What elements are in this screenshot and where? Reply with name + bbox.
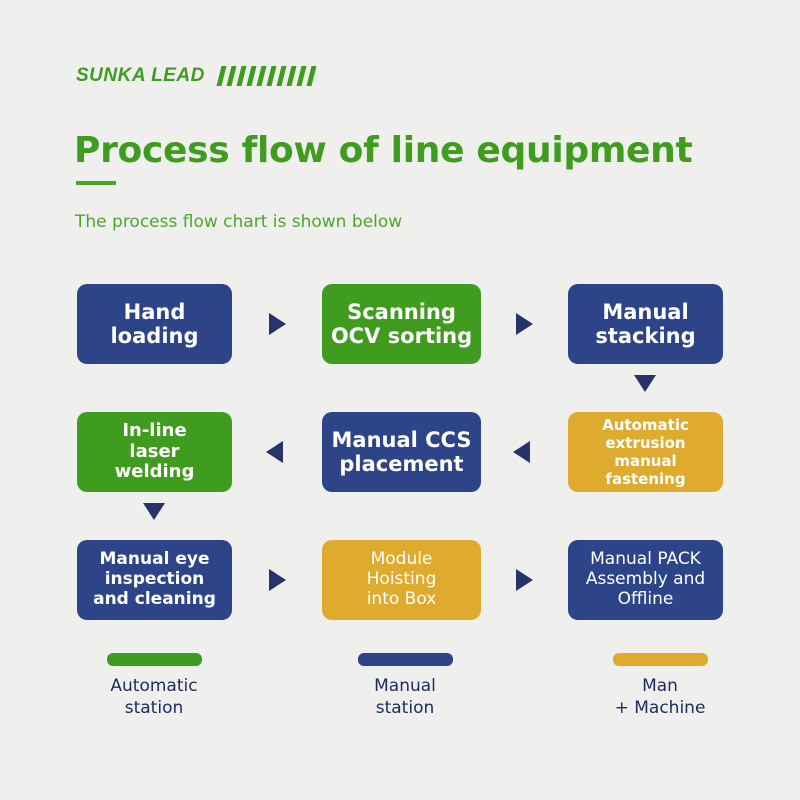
arrow-down-icon bbox=[143, 503, 165, 520]
legend-label: Automatic station bbox=[84, 675, 224, 719]
flow-node-label: Hand loading bbox=[110, 300, 198, 349]
legend-swatch-blue bbox=[358, 653, 453, 666]
legend-label: Man + Machine bbox=[590, 675, 730, 719]
flow-node-module-hoisting-into-box[interactable]: Module Hoisting into Box bbox=[322, 540, 481, 620]
flow-node-hand-loading[interactable]: Hand loading bbox=[77, 284, 232, 364]
arrow-left-icon bbox=[513, 441, 530, 463]
legend-item-automatic-station: Automatic station bbox=[84, 653, 224, 719]
arrow-left-icon bbox=[266, 441, 283, 463]
flow-node-automatic-extrusion-manual-fastening[interactable]: Automatic extrusion manual fastening bbox=[568, 412, 723, 492]
flow-node-manual-pack-assembly-and-offline[interactable]: Manual PACK Assembly and Offline bbox=[568, 540, 723, 620]
flow-node-manual-eye-inspection-and-cleaning[interactable]: Manual eye inspection and cleaning bbox=[77, 540, 232, 620]
arrow-down-icon bbox=[634, 375, 656, 392]
flow-node-label: Manual CCS placement bbox=[332, 428, 472, 477]
arrow-right-icon bbox=[269, 569, 286, 591]
flow-node-manual-stacking[interactable]: Manual stacking bbox=[568, 284, 723, 364]
flow-node-label: In-line laser welding bbox=[115, 421, 195, 484]
flow-node-manual-ccs-placement[interactable]: Manual CCS placement bbox=[322, 412, 481, 492]
legend-item-manual-station: Manual station bbox=[340, 653, 470, 719]
flow-node-label: Module Hoisting into Box bbox=[367, 550, 437, 609]
flow-node-scanning-ocv-sorting[interactable]: Scanning OCV sorting bbox=[322, 284, 481, 364]
flow-node-label: Scanning OCV sorting bbox=[331, 300, 472, 349]
flow-node-label: Automatic extrusion manual fastening bbox=[602, 416, 689, 488]
flow-node-label: Manual eye inspection and cleaning bbox=[93, 550, 216, 609]
flow-node-label: Manual PACK Assembly and Offline bbox=[586, 550, 705, 609]
legend-label: Manual station bbox=[340, 675, 470, 719]
flow-node-in-line-laser-welding[interactable]: In-line laser welding bbox=[77, 412, 232, 492]
legend-swatch-gold bbox=[613, 653, 708, 666]
legend-item-man-plus-machine: Man + Machine bbox=[590, 653, 730, 719]
arrow-right-icon bbox=[516, 569, 533, 591]
arrow-right-icon bbox=[269, 313, 286, 335]
arrow-right-icon bbox=[516, 313, 533, 335]
legend-swatch-green bbox=[107, 653, 202, 666]
flow-node-label: Manual stacking bbox=[595, 300, 695, 349]
